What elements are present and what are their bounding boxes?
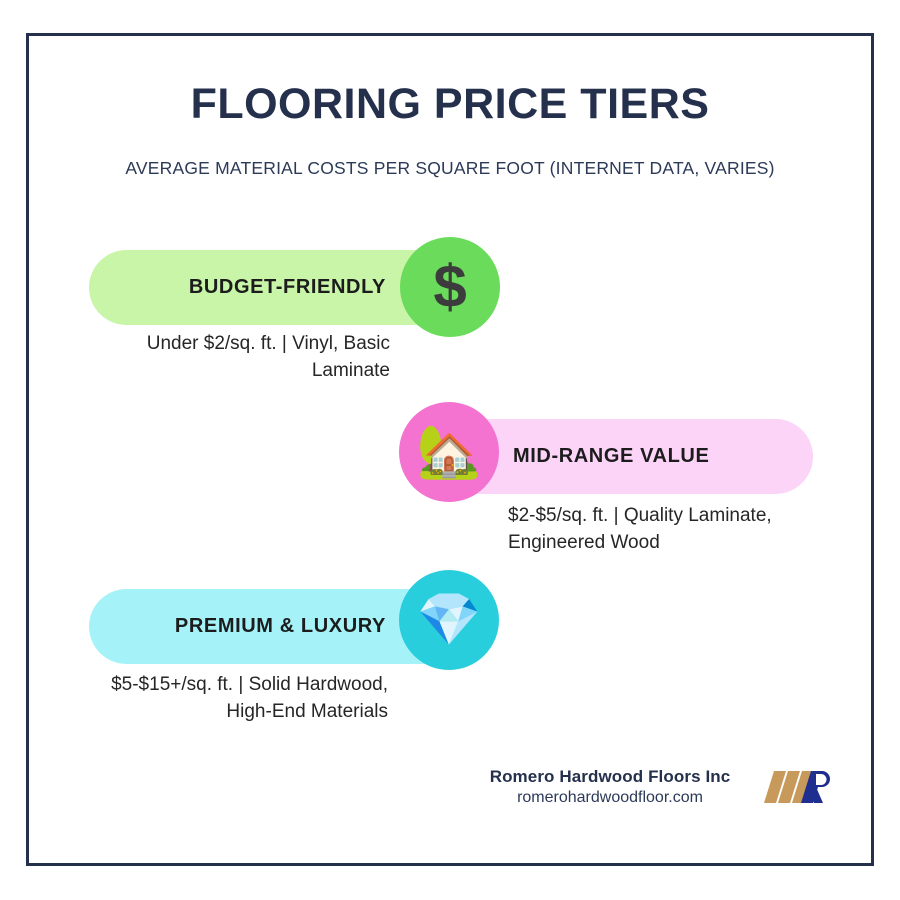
tier-label-premium-luxury: PREMIUM & LUXURY [175,615,386,638]
page-title: FLOORING PRICE TIERS [0,83,900,126]
brand-name: Romero Hardwood Floors Inc [470,766,750,787]
page-subtitle: AVERAGE MATERIAL COSTS PER SQUARE FOOT (… [0,160,900,178]
house-with-garden-icon: 🏡 [417,426,482,478]
tier-description-budget-friendly: Under $2/sq. ft. | Vinyl, Basic Laminate [88,331,390,385]
infographic-canvas: FLOORING PRICE TIERS AVERAGE MATERIAL CO… [0,0,900,900]
gem-stone-icon: 💎 [417,594,482,646]
brand-footer: Romero Hardwood Floors Inc romerohardwoo… [470,765,830,809]
tier-badge-budget-friendly[interactable]: $ [400,237,500,337]
tier-label-budget-friendly: BUDGET-FRIENDLY [189,276,386,299]
romero-hardwood-logo-icon [764,765,830,809]
tier-badge-mid-range-value[interactable]: 🏡 [399,402,499,502]
dollar-sign-icon: $ [433,257,466,317]
brand-website-url[interactable]: romerohardwoodfloor.com [470,787,750,809]
tier-label-mid-range-value: MID-RANGE VALUE [513,445,709,468]
brand-text-block: Romero Hardwood Floors Inc romerohardwoo… [470,766,750,809]
tier-badge-premium-luxury[interactable]: 💎 [399,570,499,670]
tier-description-mid-range-value: $2-$5/sq. ft. | Quality Laminate, Engine… [508,503,810,557]
tier-description-premium-luxury: $5-$15+/sq. ft. | Solid Hardwood, High-E… [86,672,388,726]
